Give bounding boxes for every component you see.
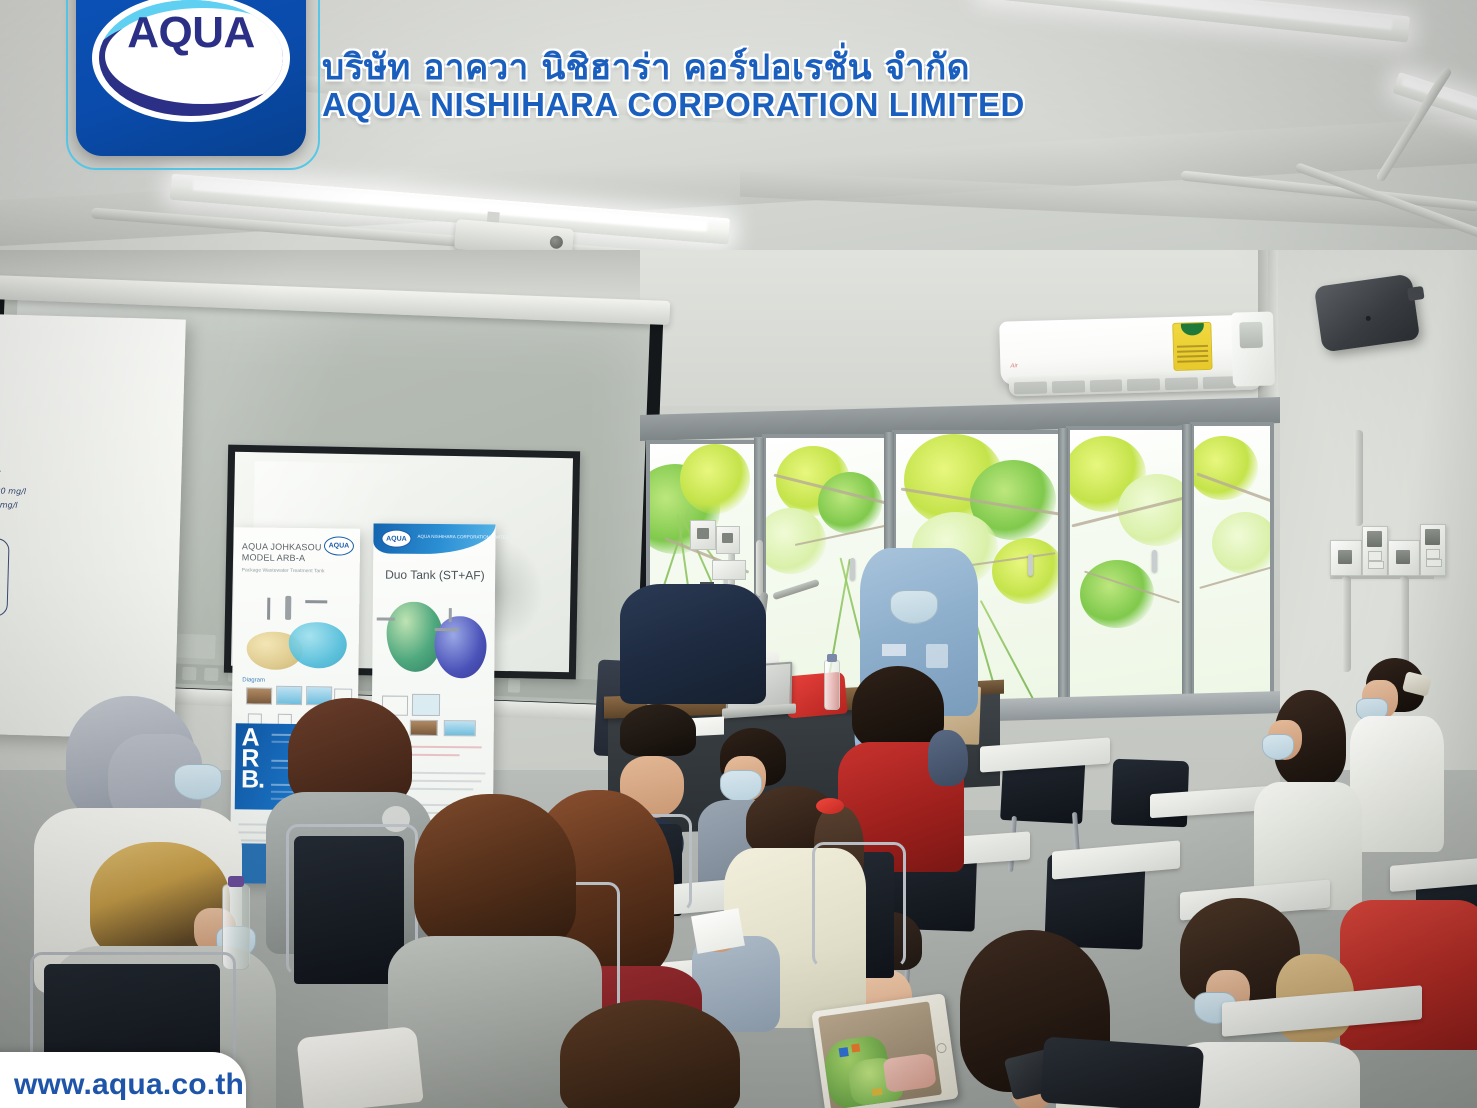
energy-efficiency-label — [1172, 322, 1212, 371]
banner-subtitle: Package Wastewater Treatment Tank — [242, 567, 325, 574]
face-mask — [720, 770, 762, 802]
water-bottle — [824, 660, 840, 710]
photograph-canvas: AQUA NISHIHARA ... Microsoft PowerPoint … — [0, 0, 1477, 1108]
window-handle[interactable] — [1028, 554, 1033, 576]
wall-socket[interactable] — [716, 526, 740, 554]
aqua-logo-card: AQUA — [76, 0, 306, 156]
dark-bag — [1040, 1036, 1204, 1108]
face-mask — [890, 590, 938, 624]
window-pane — [1066, 426, 1186, 704]
company-name-english: AQUA NISHIHARA CORPORATION LIMITED — [322, 86, 1025, 124]
flipchart-sheet: ลงถังบำบัด ...lation Tank Effluent BOD t… — [0, 313, 186, 740]
wall-socket[interactable] — [690, 520, 716, 550]
flipchart-ss-note: SS total < 30 mg/l — [0, 499, 18, 510]
window-handle[interactable] — [1152, 550, 1157, 572]
wall-junction-box — [712, 560, 746, 580]
electrical-outlet-box[interactable] — [1330, 540, 1362, 576]
banner-title-line1: AQUA JOHKASOU — [242, 541, 322, 552]
flipchart-bod-note: BOD total < 20 mg/l — [0, 485, 26, 496]
wall-speaker — [1314, 274, 1420, 353]
face-mask — [174, 764, 222, 800]
hair-tie — [816, 798, 844, 814]
electrical-switch-box[interactable] — [1362, 526, 1388, 576]
air-conditioner: Air — [999, 314, 1269, 385]
banner-arb-letters: ARB. — [241, 727, 265, 790]
electrical-switch-box[interactable] — [1420, 524, 1446, 576]
banner-aqua-logo-icon: AQUA — [381, 530, 411, 548]
tablet-device[interactable] — [811, 993, 958, 1108]
white-handbag — [296, 1026, 423, 1108]
banner-title-line2: MODEL ARB-A — [242, 552, 306, 563]
banner-duotank-title: Duo Tank (ST+AF) — [385, 568, 485, 583]
aqua-wordmark: AQUA — [76, 8, 306, 58]
electrical-outlet-box[interactable] — [1388, 540, 1420, 576]
banner-company-header: AQUA NISHIHARA CORPORATION LIMITED — [417, 534, 508, 540]
air-conditioner-side-panel — [1231, 311, 1275, 386]
website-url-bar[interactable]: www.aqua.co.th — [0, 1052, 246, 1108]
banner-aqua-logo-icon: AQUA — [324, 536, 354, 555]
banner-section-label: Diagram — [242, 677, 265, 683]
face-mask — [1262, 734, 1294, 760]
window-pane — [1190, 422, 1274, 704]
website-url-text: www.aqua.co.th — [14, 1068, 244, 1102]
window-handle[interactable] — [850, 558, 855, 580]
